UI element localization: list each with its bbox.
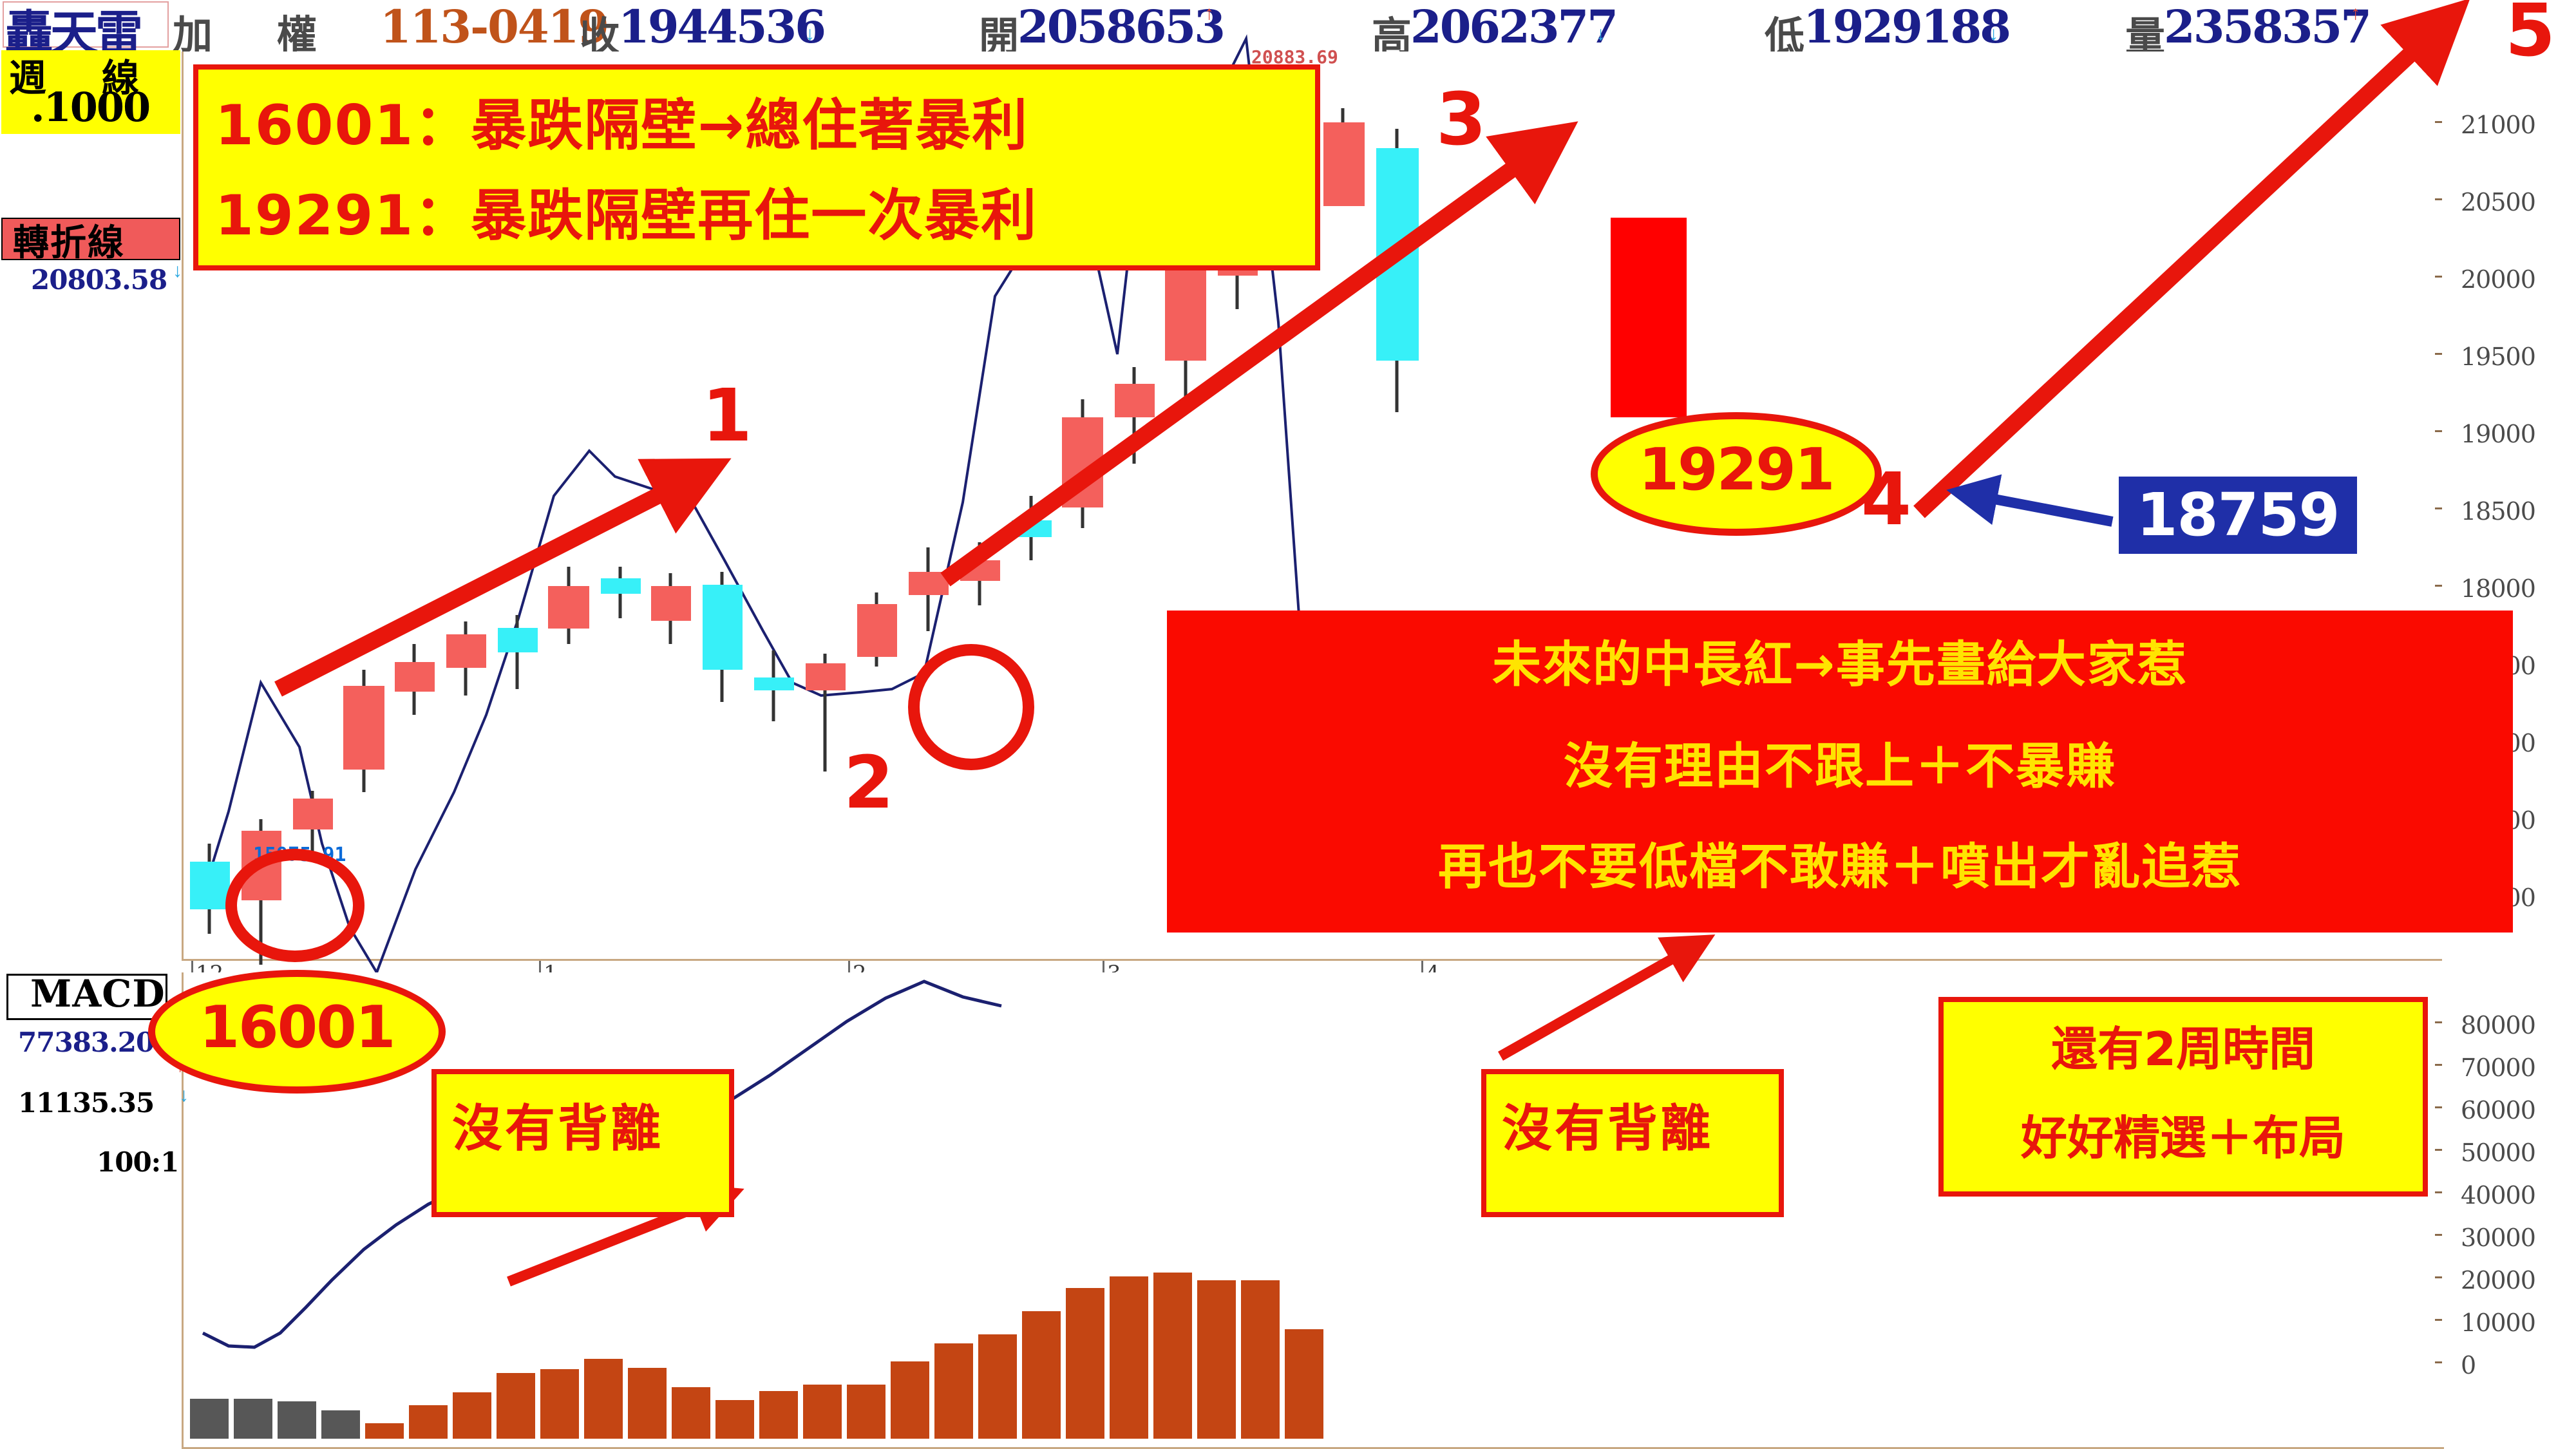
divergence-note-left-text: 沒有背離	[452, 1088, 663, 1160]
divergence-note-left[interactable]: 沒有背離	[431, 1069, 734, 1217]
low-price-circle-marker	[225, 849, 365, 962]
macd-down-arrow-icon: ↓	[179, 1084, 189, 1106]
target-price-box[interactable]: 18759	[2119, 477, 2357, 554]
vol-tick-label: 0	[2461, 1351, 2476, 1379]
y-tick-label: 18500	[2461, 497, 2535, 526]
macd-value: 11135.35	[18, 1087, 154, 1119]
top-annotation-line-2: 19291：暴跌隔壁再住一次暴利	[215, 170, 1037, 251]
bottom-annotation-box[interactable]: 還有2周時間 好好精選＋布局	[1938, 997, 2428, 1197]
bottom-annotation-line-2: 好好精選＋布局	[1944, 1100, 2423, 1168]
vol-tick-label: 20000	[2461, 1266, 2535, 1294]
volume-value: 2358357	[2164, 0, 2370, 53]
divergence-note-right[interactable]: 沒有背離	[1481, 1069, 1784, 1217]
turning-down-arrow-icon: ↓	[173, 260, 182, 282]
vol-tick-label: 30000	[2461, 1224, 2535, 1252]
high-down-arrow-icon: ↓	[1596, 23, 1605, 45]
marker-4: 4	[1861, 464, 1911, 536]
volume-bar-series	[190, 1273, 1323, 1439]
close-down-arrow-icon: ↓	[805, 23, 815, 45]
macd-title-box[interactable]: MACD	[6, 974, 167, 1020]
y-tick-label: 20500	[2461, 188, 2535, 216]
y-tick-label: 19500	[2461, 343, 2535, 371]
pullback-circle-marker	[908, 644, 1034, 770]
close-value: 1944536	[618, 0, 824, 53]
low-down-arrow-icon: ↓	[1989, 23, 1998, 45]
high-value: 2062377	[1410, 0, 1616, 53]
marker-1: 1	[702, 380, 752, 452]
top-annotation-line-1: 16001：暴跌隔壁→總住著暴利	[215, 80, 1028, 160]
marker-2: 2	[844, 747, 894, 819]
red-annotation-line-3: 再也不要低檔不敢賺＋噴出才亂追惹	[1167, 827, 2513, 898]
top-annotation-box[interactable]: 16001：暴跌隔壁→總住著暴利 19291：暴跌隔壁再住一次暴利	[193, 64, 1320, 270]
vol-tick-label: 70000	[2461, 1054, 2535, 1082]
divergence-note-right-text: 沒有背離	[1502, 1088, 1713, 1160]
vol-tick-label: 50000	[2461, 1139, 2535, 1167]
turning-line-label: 轉折線	[13, 214, 125, 266]
open-value: 2058653	[1018, 0, 1224, 53]
period-value: .1000	[31, 84, 149, 131]
volume-y-axis: 80000 70000 60000 50000 40000 30000 2000…	[2444, 972, 2576, 1449]
high-pivot-value: 19291	[1598, 436, 1875, 504]
low-pivot-value: 16001	[155, 994, 439, 1061]
macd-dif-value: 77383.20	[18, 1027, 154, 1058]
logo-box: 轟天雷	[3, 1, 169, 48]
turning-line-value: 20803.58	[31, 264, 167, 296]
marker-3: 3	[1436, 84, 1486, 156]
volume-up-arrow-icon: ↑	[2351, 3, 2360, 24]
header-bar: 轟天雷 加 權 113-0419 收 1944536 ↓ 開 2058653 ↑…	[0, 0, 2576, 50]
macd-ratio: 100:1	[97, 1146, 178, 1178]
red-annotation-box[interactable]: 未來的中長紅→事先畫給大家惹 沒有理由不跟上＋不暴賺 再也不要低檔不敢賺＋噴出才…	[1167, 611, 2513, 933]
bottom-annotation-line-1: 還有2周時間	[1944, 1011, 2423, 1079]
open-up-arrow-icon: ↑	[1204, 3, 1214, 24]
y-tick-label: 20000	[2461, 265, 2535, 294]
target-price-value: 18759	[2119, 480, 2357, 549]
red-annotation-line-1: 未來的中長紅→事先畫給大家惹	[1167, 625, 2513, 696]
marker-5: 5	[2505, 0, 2555, 67]
low-value: 1929188	[1803, 0, 2009, 53]
vol-tick-label: 60000	[2461, 1096, 2535, 1124]
y-tick-label: 21000	[2461, 111, 2535, 139]
y-tick-label: 18000	[2461, 574, 2535, 603]
y-tick-label: 19000	[2461, 420, 2535, 448]
turning-line-badge[interactable]: 轉折線	[1, 218, 180, 260]
macd-title: MACD	[30, 972, 166, 1016]
vol-tick-label: 10000	[2461, 1309, 2535, 1337]
quote-date: 113-0419	[380, 0, 608, 53]
vol-tick-label: 80000	[2461, 1011, 2535, 1039]
low-pivot-callout[interactable]: 16001	[148, 970, 446, 1094]
high-pivot-callout[interactable]: 19291	[1591, 412, 1882, 536]
period-badge[interactable]: 週 線 .1000	[1, 50, 180, 134]
vol-tick-label: 40000	[2461, 1181, 2535, 1209]
projected-candle	[1611, 218, 1687, 417]
red-annotation-line-2: 沒有理由不跟上＋不暴賺	[1167, 726, 2513, 797]
